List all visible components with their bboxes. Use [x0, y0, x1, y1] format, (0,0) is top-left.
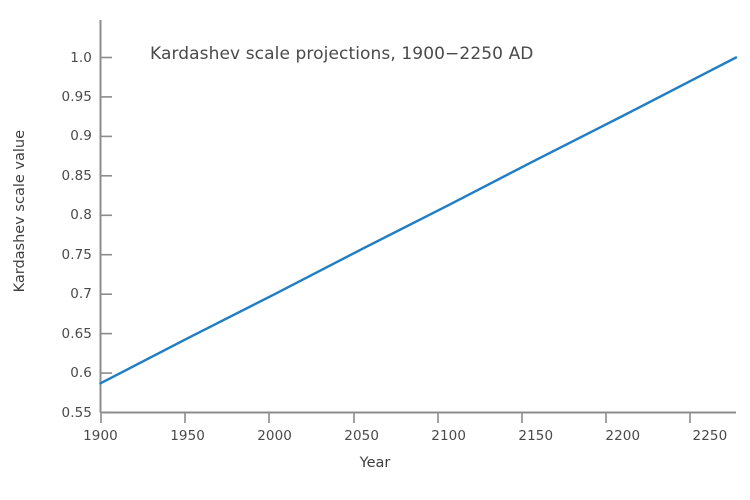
y-tick-label: 0.95: [52, 89, 92, 105]
x-tick-label: 2050: [344, 428, 379, 444]
y-tick-label: 0.85: [52, 168, 92, 184]
chart-figure: Kardashev scale projections, 1900−2250 A…: [0, 0, 750, 500]
x-tick-label: 2000: [257, 428, 292, 444]
x-axis-title: Year: [0, 455, 750, 471]
x-tick-label: 2150: [518, 428, 553, 444]
x-tick-label: 1900: [83, 428, 118, 444]
y-tick-label: 0.75: [52, 247, 92, 263]
y-tick-label: 0.6: [52, 365, 92, 381]
y-axis-ticks: [101, 58, 113, 413]
data-series-line: [101, 58, 737, 384]
plot-canvas: [0, 0, 750, 500]
x-axis-ticks: [101, 413, 690, 424]
x-tick-label: 2200: [605, 428, 640, 444]
y-tick-label: 0.55: [52, 405, 92, 421]
y-tick-label: 0.7: [52, 286, 92, 302]
y-tick-label: 0.65: [52, 326, 92, 342]
y-axis-title: Kardashev scale value: [12, 130, 42, 292]
y-tick-label: 1.0: [52, 50, 92, 66]
x-tick-label: 1950: [170, 428, 205, 444]
x-tick-label: 2250: [693, 428, 728, 444]
x-tick-label: 2100: [431, 428, 466, 444]
y-tick-label: 0.8: [52, 207, 92, 223]
chart-title: Kardashev scale projections, 1900−2250 A…: [150, 44, 534, 64]
y-tick-label: 0.9: [52, 128, 92, 144]
